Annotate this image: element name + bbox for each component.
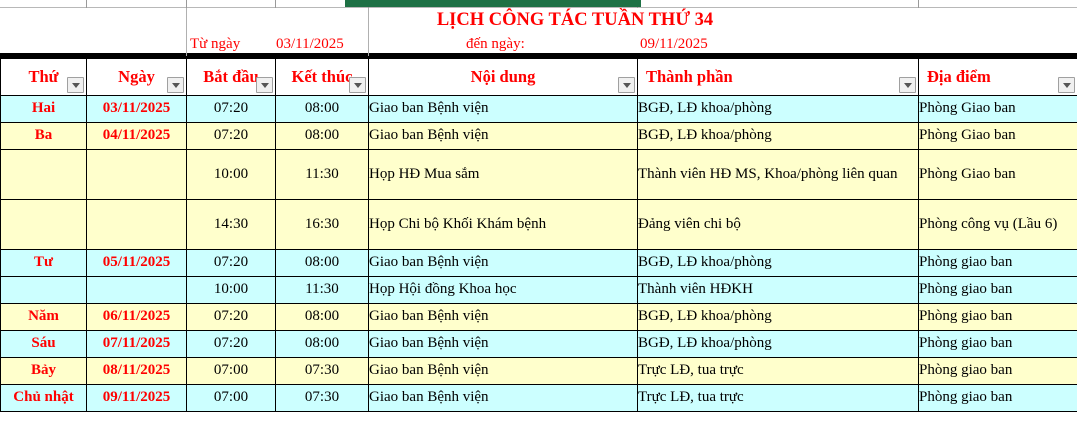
table-row[interactable]: Năm06/11/202507:2008:00Giao ban Bệnh việ… (1, 304, 1077, 331)
cell-content[interactable]: Giao ban Bệnh viện (369, 331, 638, 358)
schedule-table: Thứ Ngày Bắt đầu Kết thúc Nội dung (0, 56, 1077, 412)
column-header-date-label: Ngày (116, 68, 157, 87)
spreadsheet-sheet: LỊCH CÔNG TÁC TUẦN THỨ 34 Từ ngày 03/11/… (0, 0, 1077, 433)
cell-participants[interactable]: BGĐ, LĐ khoa/phòng (638, 331, 919, 358)
cell-location[interactable]: Phòng Giao ban (919, 150, 1077, 200)
cell-start-time[interactable]: 14:30 (187, 200, 276, 250)
cell-start-time[interactable]: 07:20 (187, 331, 276, 358)
cell-participants[interactable]: Thành viên HĐKH (638, 277, 919, 304)
column-header-who-label: Thành phần (644, 68, 735, 87)
date-range-row: Từ ngày 03/11/2025 đến ngày: 09/11/2025 (0, 36, 1077, 56)
cell-end-time[interactable]: 08:00 (276, 304, 369, 331)
column-header-content-label: Nội dung (469, 68, 538, 87)
cell-day[interactable]: Hai (1, 96, 87, 123)
cell-location[interactable]: Phòng giao ban (919, 385, 1077, 412)
gridline (186, 0, 187, 8)
table-row[interactable]: Sáu07/11/202507:2008:00Giao ban Bệnh việ… (1, 331, 1077, 358)
column-header-day[interactable]: Thứ (1, 58, 87, 96)
frozen-row-strip (0, 0, 1077, 8)
cell-participants[interactable]: Trực LĐ, tua trực (638, 358, 919, 385)
column-header-start-label: Bắt đầu (201, 68, 260, 87)
cell-end-time[interactable]: 11:30 (276, 277, 369, 304)
page-title: LỊCH CÔNG TÁC TUẦN THỨ 34 (345, 10, 805, 31)
cell-content[interactable]: Giao ban Bệnh viện (369, 385, 638, 412)
gridline (275, 0, 276, 8)
column-header-place[interactable]: Địa điểm (919, 58, 1077, 96)
from-date-value: 03/11/2025 (276, 36, 344, 53)
cell-content[interactable]: Giao ban Bệnh viện (369, 250, 638, 277)
green-selection-bar (345, 0, 641, 7)
cell-content[interactable]: Giao ban Bệnh viện (369, 123, 638, 150)
filter-dropdown-icon[interactable] (67, 77, 84, 93)
cell-location[interactable]: Phòng công vụ (Lầu 6) (919, 200, 1077, 250)
filter-dropdown-icon[interactable] (1058, 77, 1075, 93)
cell-day[interactable] (1, 200, 87, 250)
cell-start-time[interactable]: 07:20 (187, 123, 276, 150)
cell-content[interactable]: Giao ban Bệnh viện (369, 358, 638, 385)
filter-dropdown-icon[interactable] (349, 77, 366, 93)
cell-end-time[interactable]: 11:30 (276, 150, 369, 200)
cell-end-time[interactable]: 08:00 (276, 96, 369, 123)
cell-participants[interactable]: BGĐ, LĐ khoa/phòng (638, 96, 919, 123)
cell-date[interactable]: 04/11/2025 (87, 123, 187, 150)
cell-participants[interactable]: BGĐ, LĐ khoa/phòng (638, 123, 919, 150)
cell-date[interactable]: 06/11/2025 (87, 304, 187, 331)
cell-content[interactable]: Giao ban Bệnh viện (369, 304, 638, 331)
cell-day[interactable]: Bảy (1, 358, 87, 385)
cell-location[interactable]: Phòng giao ban (919, 358, 1077, 385)
column-header-content[interactable]: Nội dung (369, 58, 638, 96)
cell-start-time[interactable]: 07:20 (187, 96, 276, 123)
cell-date[interactable]: 08/11/2025 (87, 358, 187, 385)
filter-dropdown-icon[interactable] (899, 77, 916, 93)
cell-end-time[interactable]: 08:00 (276, 123, 369, 150)
cell-day[interactable]: Ba (1, 123, 87, 150)
table-row[interactable]: Chủ nhật09/11/202507:0007:30Giao ban Bện… (1, 385, 1077, 412)
cell-location[interactable]: Phòng giao ban (919, 250, 1077, 277)
from-date-label: Từ ngày (190, 36, 240, 53)
table-row[interactable]: 10:0011:30Họp Hội đồng Khoa họcThành viê… (1, 277, 1077, 304)
table-row[interactable]: 14:3016:30Họp Chi bộ Khối Khám bệnhĐảng … (1, 200, 1077, 250)
filter-dropdown-icon[interactable] (256, 77, 273, 93)
column-header-end-label: Kết thúc (290, 68, 355, 87)
to-date-value: 09/11/2025 (640, 36, 708, 53)
cell-date[interactable] (87, 200, 187, 250)
table-row[interactable]: Bảy08/11/202507:0007:30Giao ban Bệnh việ… (1, 358, 1077, 385)
filter-dropdown-icon[interactable] (167, 77, 184, 93)
cell-day[interactable]: Năm (1, 304, 87, 331)
cell-start-time[interactable]: 10:00 (187, 277, 276, 304)
cell-date[interactable] (87, 150, 187, 200)
column-header-end[interactable]: Kết thúc (276, 58, 369, 96)
cell-content[interactable]: Họp Chi bộ Khối Khám bệnh (369, 200, 638, 250)
cell-day[interactable] (1, 277, 87, 304)
column-header-day-label: Thứ (26, 68, 60, 87)
table-row[interactable]: Tư05/11/202507:2008:00Giao ban Bệnh viện… (1, 250, 1077, 277)
cell-end-time[interactable]: 08:00 (276, 331, 369, 358)
cell-day[interactable]: Tư (1, 250, 87, 277)
table-row[interactable]: Hai03/11/202507:2008:00Giao ban Bệnh việ… (1, 96, 1077, 123)
gridline (86, 0, 87, 8)
column-header-who[interactable]: Thành phần (638, 58, 919, 96)
title-block: LỊCH CÔNG TÁC TUẦN THỨ 34 Từ ngày 03/11/… (0, 8, 1077, 56)
cell-location[interactable]: Phòng Giao ban (919, 96, 1077, 123)
cell-start-time[interactable]: 07:00 (187, 385, 276, 412)
cell-location[interactable]: Phòng Giao ban (919, 123, 1077, 150)
cell-participants[interactable]: Trực LĐ, tua trực (638, 385, 919, 412)
column-header-start[interactable]: Bắt đầu (187, 58, 276, 96)
cell-content[interactable]: Giao ban Bệnh viện (369, 96, 638, 123)
cell-date[interactable] (87, 277, 187, 304)
cell-location[interactable]: Phòng giao ban (919, 304, 1077, 331)
cell-end-time[interactable]: 07:30 (276, 358, 369, 385)
to-date-label: đến ngày: (466, 36, 525, 53)
cell-day[interactable]: Sáu (1, 331, 87, 358)
cell-start-time[interactable]: 10:00 (187, 150, 276, 200)
cell-start-time[interactable]: 07:00 (187, 358, 276, 385)
cell-location[interactable]: Phòng giao ban (919, 277, 1077, 304)
table-header-row: Thứ Ngày Bắt đầu Kết thúc Nội dung (1, 58, 1077, 96)
cell-end-time[interactable]: 16:30 (276, 200, 369, 250)
filter-dropdown-icon[interactable] (618, 77, 635, 93)
cell-end-time[interactable]: 07:30 (276, 385, 369, 412)
cell-day[interactable] (1, 150, 87, 200)
cell-date[interactable]: 03/11/2025 (87, 96, 187, 123)
cell-participants[interactable]: Đảng viên chi bộ (638, 200, 919, 250)
table-row[interactable]: 10:0011:30Họp HĐ Mua sắmThành viên HĐ MS… (1, 150, 1077, 200)
column-header-place-label: Địa điểm (925, 68, 993, 87)
cell-date[interactable]: 09/11/2025 (87, 385, 187, 412)
column-header-date[interactable]: Ngày (87, 58, 187, 96)
cell-location[interactable]: Phòng giao ban (919, 331, 1077, 358)
cell-participants[interactable]: Thành viên HĐ MS, Khoa/phòng liên quan (638, 150, 919, 200)
cell-start-time[interactable]: 07:20 (187, 304, 276, 331)
cell-day[interactable]: Chủ nhật (1, 385, 87, 412)
cell-participants[interactable]: BGĐ, LĐ khoa/phòng (638, 304, 919, 331)
cell-start-time[interactable]: 07:20 (187, 250, 276, 277)
table-body: Hai03/11/202507:2008:00Giao ban Bệnh việ… (1, 96, 1077, 412)
cell-date[interactable]: 05/11/2025 (87, 250, 187, 277)
cell-content[interactable]: Họp HĐ Mua sắm (369, 150, 638, 200)
gridline (918, 0, 919, 8)
cell-participants[interactable]: BGĐ, LĐ khoa/phòng (638, 250, 919, 277)
cell-end-time[interactable]: 08:00 (276, 250, 369, 277)
cell-date[interactable]: 07/11/2025 (87, 331, 187, 358)
cell-content[interactable]: Họp Hội đồng Khoa học (369, 277, 638, 304)
table-row[interactable]: Ba04/11/202507:2008:00Giao ban Bệnh viện… (1, 123, 1077, 150)
